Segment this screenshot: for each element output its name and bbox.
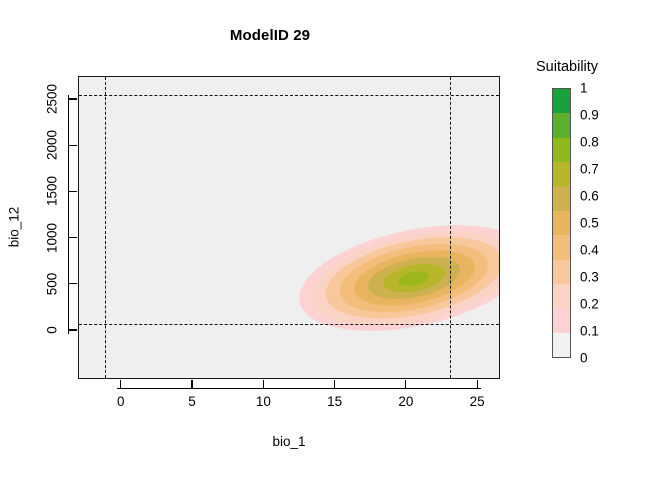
legend-tick-label: 0 [580, 351, 588, 366]
legend-band [553, 308, 570, 332]
legend-tick-label: 0.2 [580, 297, 599, 312]
x-axis-tick-label: 0 [117, 394, 125, 409]
y-axis-tick [68, 237, 77, 238]
y-axis-tick-label: 2500 [45, 84, 60, 114]
legend-band [553, 211, 570, 235]
y-axis-tick [68, 98, 77, 99]
legend-tick-label: 0.7 [580, 162, 599, 177]
legend-color-bar [552, 88, 571, 358]
x-axis-tick-label: 10 [256, 394, 271, 409]
page-title: ModelID 29 [0, 27, 540, 44]
legend-tick-label: 0.3 [580, 270, 599, 285]
legend-band [553, 186, 570, 210]
x-axis-tick-label: 15 [327, 394, 342, 409]
legend-band [553, 260, 570, 284]
y-axis-tick-label: 0 [45, 326, 60, 334]
x-axis-title: bio_1 [78, 434, 500, 449]
plot-panel [78, 76, 500, 379]
legend-tick-label: 0.8 [580, 135, 599, 150]
x-axis-tick [477, 380, 478, 389]
legend-tick-label: 1 [580, 81, 588, 96]
x-axis-tick-label: 20 [398, 394, 413, 409]
chart-canvas: ModelID 29 0510152025 050010001500200025… [0, 0, 672, 480]
x-axis-tick [120, 380, 121, 389]
legend-band [553, 284, 570, 308]
y-axis-tick-label: 1000 [45, 223, 60, 253]
x-axis-tick [334, 380, 335, 389]
contour-surface [79, 77, 499, 378]
legend-tick-label: 0.6 [580, 189, 599, 204]
legend-band [553, 162, 570, 186]
x-axis-tick-label: 5 [188, 394, 196, 409]
x-axis-tick-label: 25 [470, 394, 485, 409]
x-axis-tick [405, 380, 406, 389]
legend-band [553, 235, 570, 259]
legend-tick-label: 0.5 [580, 216, 599, 231]
legend-band [553, 113, 570, 137]
legend-band [553, 333, 570, 357]
x-axis-tick [191, 380, 192, 389]
legend-tick-label: 0.9 [580, 108, 599, 123]
reference-line-horizontal [79, 324, 499, 325]
x-axis-tick [263, 380, 264, 389]
y-axis-line [68, 95, 69, 334]
y-axis-tick [68, 145, 77, 146]
reference-line-vertical [450, 77, 451, 378]
y-axis-title: bio_12 [7, 207, 22, 248]
reference-line-horizontal [79, 95, 499, 96]
y-axis-tick [68, 329, 77, 330]
y-axis-tick [68, 283, 77, 284]
reference-line-vertical [105, 77, 106, 378]
y-axis-tick [68, 191, 77, 192]
y-axis-tick-label: 500 [45, 273, 60, 296]
legend-tick-label: 0.4 [580, 243, 599, 258]
legend-band [553, 138, 570, 162]
x-axis-line [117, 388, 481, 389]
legend-title: Suitability [536, 59, 598, 75]
y-axis-tick-label: 1500 [45, 176, 60, 206]
y-axis-tick-label: 2000 [45, 130, 60, 160]
legend-tick-label: 0.1 [580, 324, 599, 339]
legend-band [553, 89, 570, 113]
